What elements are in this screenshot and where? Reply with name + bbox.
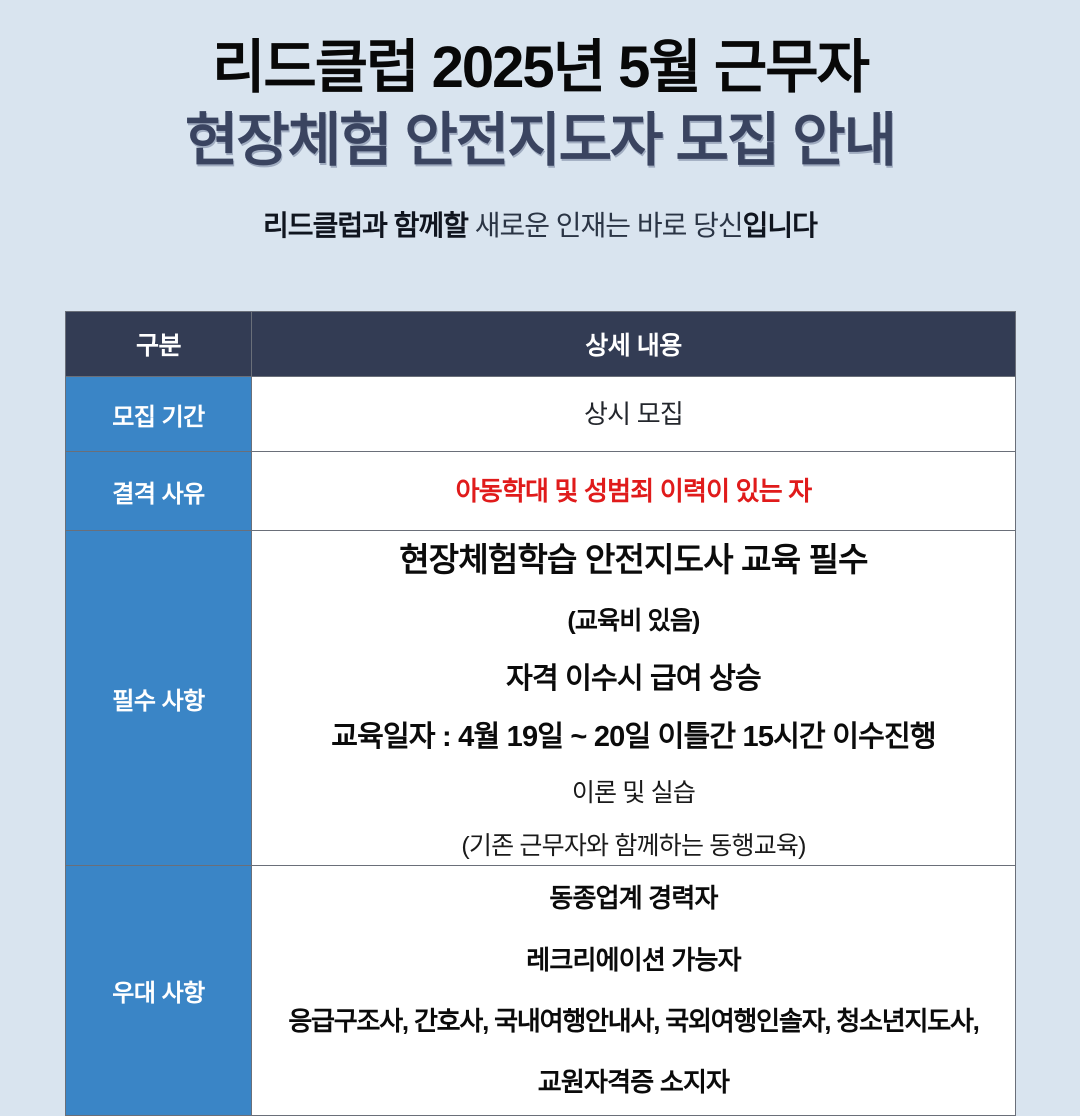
subtitle-part-1: 리드클럽과 함께할 bbox=[263, 210, 468, 241]
row-label-disqualification: 결격 사유 bbox=[66, 452, 252, 531]
subtitle: 리드클럽과 함께할 새로운 인재는 바로 당신입니다 bbox=[0, 209, 1080, 243]
recruitment-poster: 리드클럽 2025년 5월 근무자 현장체험 안전지도자 모집 안내 리드클럽과… bbox=[0, 0, 1080, 1080]
row-value-recruitment-period: 상시 모집 bbox=[252, 377, 1016, 452]
table-row-disqualification: 결격 사유 아동학대 및 성범죄 이력이 있는 자 bbox=[66, 452, 1016, 531]
table-row-requirements: 필수 사항 현장체험학습 안전지도사 교육 필수 (교육비 있음) 자격 이수시… bbox=[66, 531, 1016, 866]
cell-line-requirements-2: (교육비 있음) bbox=[262, 609, 1005, 634]
cell-line-preferred-1: 동종업계 경력자 bbox=[262, 885, 1005, 911]
column-header-label: 구분 bbox=[66, 312, 252, 377]
subtitle-part-2: 새로운 인재는 바로 당신 bbox=[475, 210, 743, 241]
info-table: 구분 상세 내용 모집 기간 상시 모집 결격 사유 bbox=[65, 311, 1016, 1116]
cell-line-requirements-1: 현장체험학습 안전지도사 교육 필수 bbox=[262, 543, 1005, 576]
row-label-requirements: 필수 사항 bbox=[66, 531, 252, 866]
cell-line-requirements-4: 교육일자 : 4월 19일 ~ 20일 이틀간 15시간 이수진행 bbox=[262, 723, 1005, 752]
page-title-line-1: 리드클럽 2025년 5월 근무자 bbox=[0, 34, 1080, 101]
table-row-recruitment-period: 모집 기간 상시 모집 bbox=[66, 377, 1016, 452]
cell-line-group: 현장체험학습 안전지도사 교육 필수 (교육비 있음) 자격 이수시 급여 상승… bbox=[252, 531, 1015, 865]
cell-line-preferred-2: 레크리에이션 가능자 bbox=[262, 947, 1005, 973]
table-header-row: 구분 상세 내용 bbox=[66, 312, 1016, 377]
cell-line-preferred-4: 교원자격증 소지자 bbox=[262, 1069, 1005, 1095]
table-body: 모집 기간 상시 모집 결격 사유 아동학대 및 성범죄 이력이 있는 자 bbox=[66, 377, 1016, 1116]
page-title-line-2: 현장체험 안전지도자 모집 안내 bbox=[0, 107, 1080, 174]
cell-line-group: 아동학대 및 성범죄 이력이 있는 자 bbox=[252, 472, 1015, 510]
cell-line-disqualification-1: 아동학대 및 성범죄 이력이 있는 자 bbox=[262, 478, 1005, 504]
row-label-recruitment-period: 모집 기간 bbox=[66, 377, 252, 452]
row-value-requirements: 현장체험학습 안전지도사 교육 필수 (교육비 있음) 자격 이수시 급여 상승… bbox=[252, 531, 1016, 866]
table-row-preferred: 우대 사항 동종업계 경력자 레크리에이션 가능자 응급구조사, 간호사, 국내… bbox=[66, 866, 1016, 1116]
cell-line-period-1: 상시 모집 bbox=[262, 401, 1005, 427]
cell-line-group: 상시 모집 bbox=[252, 395, 1015, 433]
info-table-wrapper: 구분 상세 내용 모집 기간 상시 모집 결격 사유 bbox=[65, 311, 1015, 1068]
cell-line-group: 동종업계 경력자 레크리에이션 가능자 응급구조사, 간호사, 국내여행안내사,… bbox=[252, 881, 1015, 1101]
subtitle-part-3: 입니다 bbox=[743, 210, 817, 241]
column-header-value: 상세 내용 bbox=[252, 312, 1016, 377]
row-value-preferred: 동종업계 경력자 레크리에이션 가능자 응급구조사, 간호사, 국내여행안내사,… bbox=[252, 866, 1016, 1116]
row-label-preferred: 우대 사항 bbox=[66, 866, 252, 1116]
cell-line-requirements-6: (기존 근무자와 함께하는 동행교육) bbox=[262, 834, 1005, 859]
cell-line-requirements-5: 이론 및 실습 bbox=[262, 781, 1005, 806]
row-value-disqualification: 아동학대 및 성범죄 이력이 있는 자 bbox=[252, 452, 1016, 531]
title-block: 리드클럽 2025년 5월 근무자 현장체험 안전지도자 모집 안내 bbox=[0, 0, 1080, 175]
table-header: 구분 상세 내용 bbox=[66, 312, 1016, 377]
cell-line-requirements-3: 자격 이수시 급여 상승 bbox=[262, 665, 1005, 694]
cell-line-preferred-3: 응급구조사, 간호사, 국내여행안내사, 국외여행인솔자, 청소년지도사, bbox=[262, 1008, 1005, 1034]
